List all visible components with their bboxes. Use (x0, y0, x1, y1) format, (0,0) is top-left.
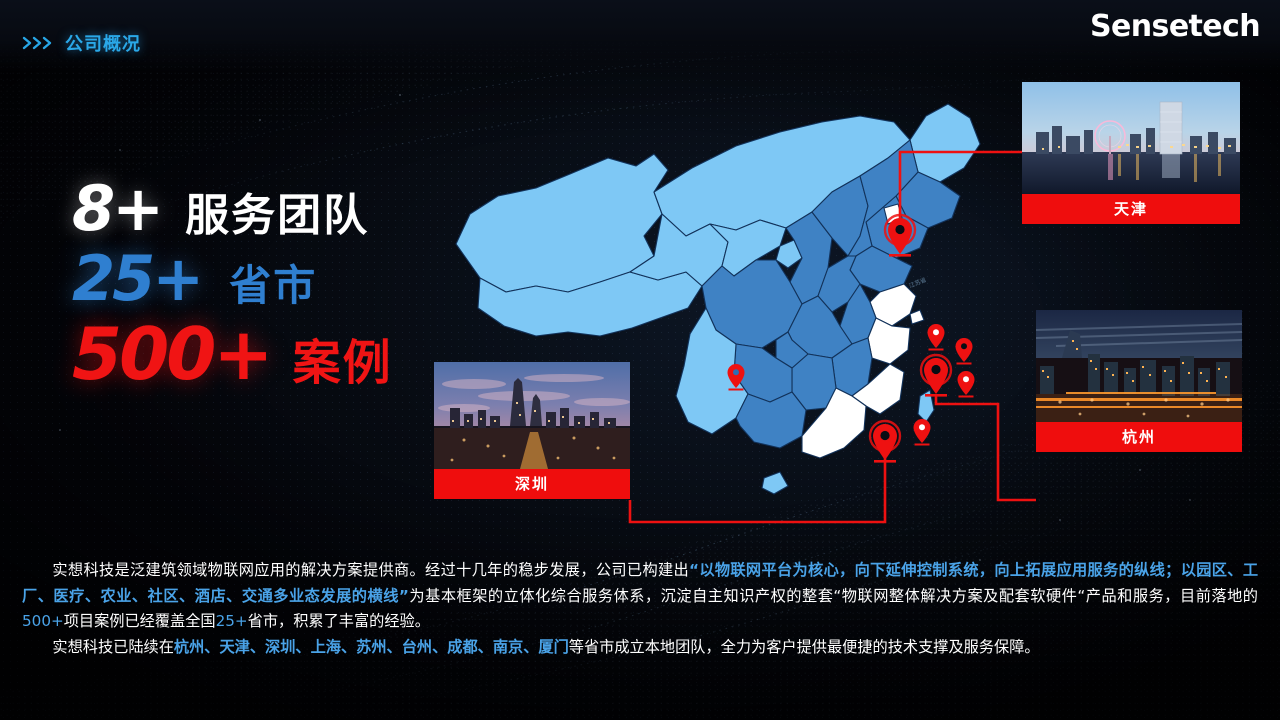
map-pin-hangzhou[interactable] (919, 354, 953, 398)
stat-label: 省市 (229, 265, 317, 307)
city-photo-shenzhen (434, 362, 630, 469)
map-pin-taizhou[interactable] (912, 418, 933, 447)
copy-p1-n1: 500+ (22, 612, 64, 630)
copy-p1-b: 为基本框架的立体化综合服务体系，沉淀自主知识产权的整套“物联网整体解决方案及配套… (409, 587, 1258, 605)
city-card-caption: 杭州 (1036, 422, 1242, 452)
stat-item-provinces: 25+ 省市 (72, 248, 393, 310)
map-pin-shenzhen[interactable] (868, 420, 902, 464)
copy-p2-a: 实想科技已陆续在 (52, 638, 174, 656)
body-copy: 实想科技是泛建筑领域物联网应用的解决方案提供商。经过十几年的稳步发展，公司已构建… (0, 558, 1280, 660)
city-card-caption: 天津 (1022, 194, 1240, 224)
city-card-hangzhou[interactable]: 杭州 (1036, 310, 1242, 452)
brand-logo: Sensetech (1090, 9, 1260, 44)
triple-chevron-right-icon (22, 35, 56, 51)
map-pin-shanghai[interactable] (954, 337, 975, 366)
copy-p1-c: 项目案例已经覆盖全国 (64, 612, 216, 630)
paragraph-1: 实想科技是泛建筑领域物联网应用的解决方案提供商。经过十几年的稳步发展，公司已构建… (22, 558, 1258, 635)
city-photo-tianjin (1022, 82, 1240, 194)
copy-p2-cities: 杭州、天津、深圳、上海、苏州、台州、成都、南京、厦门 (174, 638, 569, 656)
city-photo-hangzhou (1036, 310, 1242, 422)
map-pin-ningbo[interactable] (956, 370, 977, 399)
city-card-tianjin[interactable]: 天津 (1022, 82, 1240, 224)
stat-item-teams: 8+ 服务团队 (72, 178, 393, 240)
stat-item-cases: 500+ 案例 (72, 318, 393, 390)
city-card-caption: 深圳 (434, 469, 630, 499)
stat-label: 案例 (293, 340, 393, 388)
stat-number: 25+ (72, 248, 201, 310)
stat-number: 500+ (72, 318, 271, 390)
paragraph-2: 实想科技已陆续在杭州、天津、深圳、上海、苏州、台州、成都、南京、厦门等省市成立本… (22, 635, 1258, 661)
copy-p1-n2: 25+ (216, 612, 248, 630)
copy-p2-b: 等省市成立本地团队，全力为客户提供最便捷的技术支撑及服务保障。 (569, 638, 1040, 656)
stat-number: 8+ (72, 178, 161, 240)
map-pin-chengdu[interactable] (726, 363, 747, 392)
statistics-block: 8+ 服务团队 25+ 省市 500+ 案例 (72, 178, 393, 398)
breadcrumb: 公司概况 (22, 30, 141, 56)
page-title: 公司概况 (65, 30, 141, 56)
copy-p1-a: 实想科技是泛建筑领域物联网应用的解决方案提供商。经过十几年的稳步发展，公司已构建… (52, 561, 689, 579)
svg-text:江苏省: 江苏省 (908, 276, 928, 290)
stat-label: 服务团队 (185, 194, 369, 238)
map-pin-tianjin[interactable] (883, 214, 917, 258)
copy-p1-d: 省市，积累了丰富的经验。 (248, 612, 430, 630)
city-card-shenzhen[interactable]: 深圳 (434, 362, 630, 499)
page-header: 公司概况 Sensetech (0, 0, 1280, 72)
map-pin-suzhou[interactable] (926, 323, 947, 352)
